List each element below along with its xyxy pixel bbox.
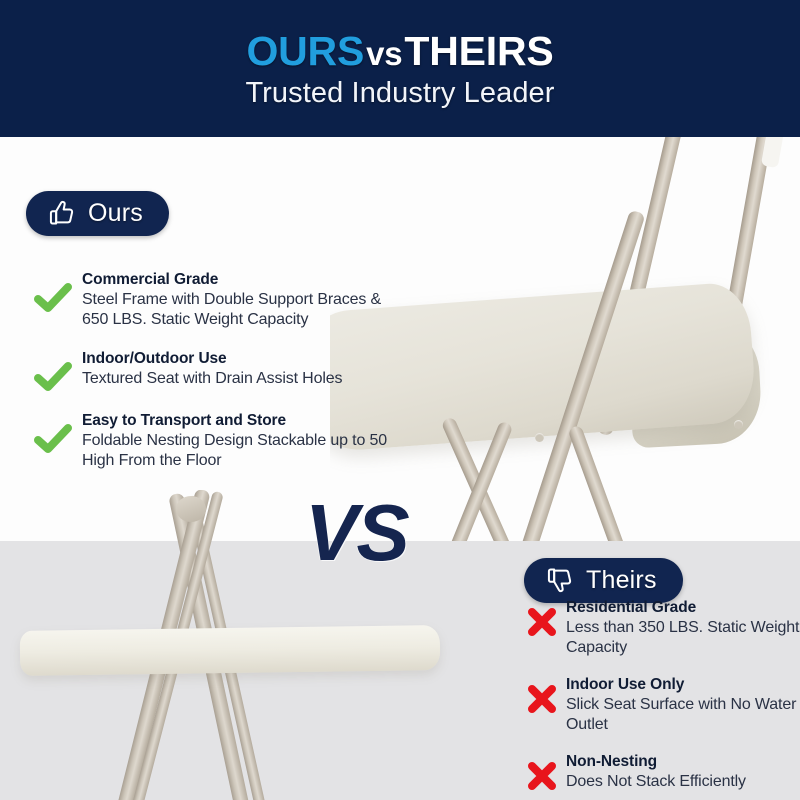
chair-seat [20, 625, 441, 676]
check-icon [33, 423, 73, 455]
cross-icon [526, 683, 558, 715]
theirs-badge-label: Theirs [586, 568, 657, 593]
check-icon [33, 282, 73, 314]
list-item: Residential Grade Less than 350 LBS. Sta… [518, 598, 800, 659]
ours-feature-list: Commercial Grade Steel Frame with Double… [24, 270, 404, 490]
chair-leg-cap [761, 137, 784, 168]
title-vs: vs [364, 35, 404, 72]
list-item-text: Commercial Grade Steel Frame with Double… [82, 270, 404, 331]
list-item-text: Indoor Use Only Slick Seat Surface with … [566, 675, 800, 736]
ours-badge: Ours [26, 191, 169, 236]
theirs-feature-list: Residential Grade Less than 350 LBS. Sta… [518, 598, 800, 800]
cross-icon [526, 760, 558, 792]
list-item: Easy to Transport and Store Foldable Nes… [24, 411, 404, 472]
list-item-desc: Foldable Nesting Design Stackable up to … [82, 431, 404, 472]
list-item-desc: Slick Seat Surface with No Water Outlet [566, 695, 800, 736]
page-subtitle: Trusted Industry Leader [245, 79, 554, 108]
title-ours: OURS [246, 28, 364, 74]
list-item-desc: Textured Seat with Drain Assist Holes [82, 369, 404, 389]
title-theirs: THEIRS [404, 28, 553, 74]
list-item-title: Easy to Transport and Store [82, 412, 404, 431]
chair-rivet [535, 433, 544, 442]
list-item-desc: Steel Frame with Double Support Braces &… [82, 290, 404, 331]
list-item: Commercial Grade Steel Frame with Double… [24, 270, 404, 331]
cross-mark-wrap [518, 598, 566, 638]
list-item: Indoor/Outdoor Use Textured Seat with Dr… [24, 349, 404, 393]
list-item-title: Indoor/Outdoor Use [82, 350, 404, 369]
list-item-text: Non-Nesting Does Not Stack Efficiently [566, 752, 800, 792]
list-item-title: Indoor Use Only [566, 676, 800, 695]
check-mark-wrap [24, 411, 82, 455]
page-title: OURSvsTHEIRS [246, 31, 553, 73]
theirs-badge: Theirs [524, 558, 683, 603]
list-item-text: Residential Grade Less than 350 LBS. Sta… [566, 598, 800, 659]
list-item-title: Residential Grade [566, 599, 800, 618]
thumbs-up-icon [48, 199, 76, 227]
vs-divider-label: VS [305, 493, 408, 573]
cross-mark-wrap [518, 752, 566, 792]
thumbs-down-icon [546, 566, 574, 594]
list-item-text: Indoor/Outdoor Use Textured Seat with Dr… [82, 349, 404, 389]
list-item-desc: Less than 350 LBS. Static Weight Capacit… [566, 618, 800, 659]
ours-badge-label: Ours [88, 201, 143, 226]
check-mark-wrap [24, 349, 82, 393]
header-banner: OURSvsTHEIRS Trusted Industry Leader [0, 0, 800, 137]
list-item: Non-Nesting Does Not Stack Efficiently [518, 752, 800, 792]
list-item-desc: Does Not Stack Efficiently [566, 772, 800, 792]
list-item-title: Commercial Grade [82, 271, 404, 290]
list-item-text: Easy to Transport and Store Foldable Nes… [82, 411, 404, 472]
list-item-title: Non-Nesting [566, 753, 800, 772]
list-item: Indoor Use Only Slick Seat Surface with … [518, 675, 800, 736]
cross-icon [526, 606, 558, 638]
check-icon [33, 361, 73, 393]
comparison-infographic: OURSvsTHEIRS Trusted Industry Leader VS [0, 0, 800, 800]
chair-rivet [734, 420, 743, 429]
check-mark-wrap [24, 270, 82, 314]
cross-mark-wrap [518, 675, 566, 715]
chair-hinge [176, 496, 206, 522]
